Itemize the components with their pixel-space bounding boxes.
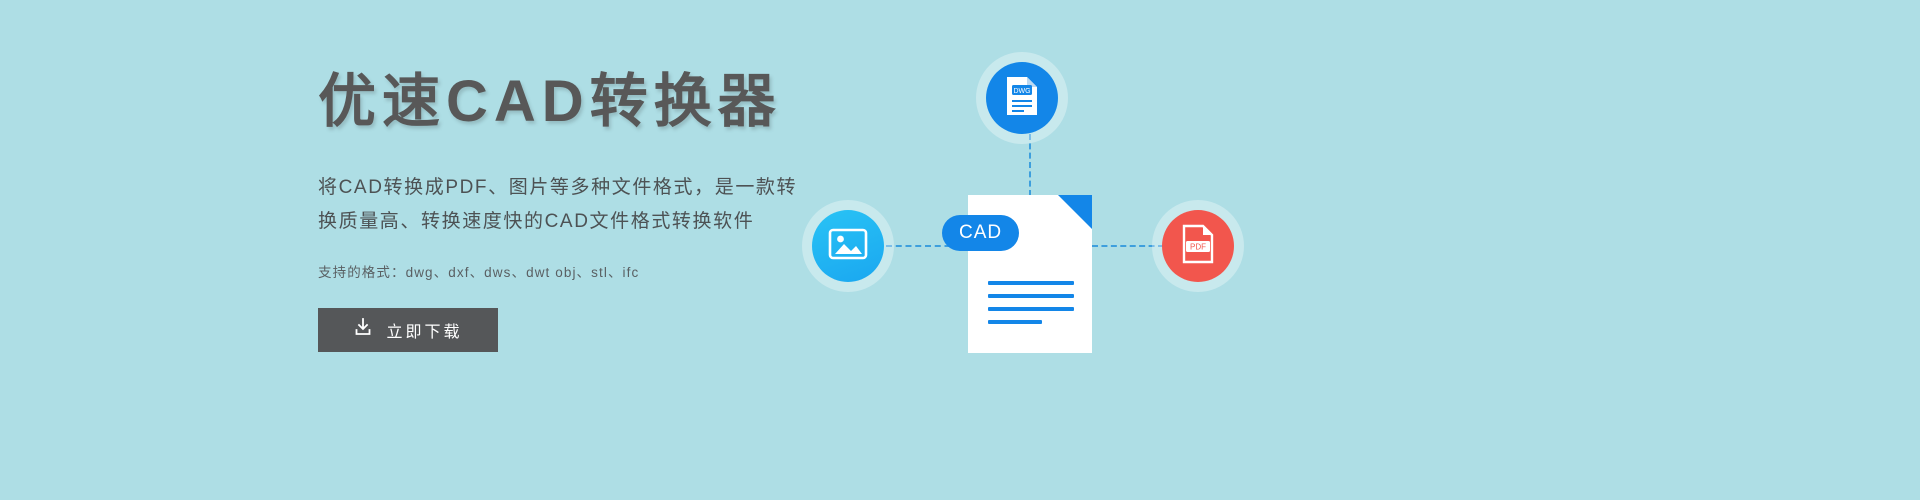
- document-text-lines: [988, 281, 1074, 333]
- image-icon: [828, 227, 868, 266]
- svg-text:DWG: DWG: [1013, 88, 1030, 95]
- conversion-diagram: DWG DWG: [790, 30, 1300, 375]
- pdf-node: PDF PDF: [1162, 210, 1234, 282]
- cad-format-tag: CAD: [942, 215, 1019, 251]
- image-node: [812, 210, 884, 282]
- hero-banner: 优速CAD转换器 将CAD转换成PDF、图片等多种文件格式，是一款转 换质量高、…: [0, 0, 1920, 500]
- download-button-label: 立即下载: [386, 318, 462, 342]
- dwg-file-icon: DWG: [1003, 75, 1041, 122]
- document-fold-corner: [1058, 195, 1092, 229]
- download-icon: [353, 317, 373, 342]
- dwg-node: DWG DWG: [986, 62, 1058, 134]
- pdf-file-icon: PDF: [1180, 224, 1216, 269]
- svg-text:PDF: PDF: [1190, 242, 1206, 251]
- download-button[interactable]: 立即下载: [318, 308, 498, 352]
